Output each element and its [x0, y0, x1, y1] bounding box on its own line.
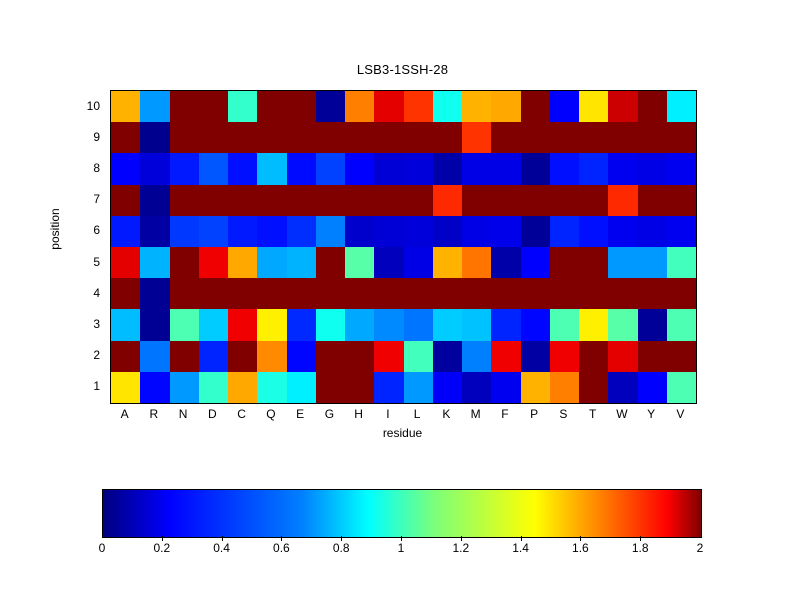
heatmap-cell: [433, 122, 462, 153]
x-axis-tick: L: [403, 404, 432, 424]
heatmap-cell: [111, 341, 140, 372]
x-axis-tick-labels: ARNDCQEGHILKMFPSTWYV: [110, 404, 695, 424]
heatmap-cell: [521, 185, 550, 216]
heatmap-cell: [257, 153, 286, 184]
heatmap-cell: [345, 309, 374, 340]
heatmap-cell: [316, 372, 345, 403]
x-axis-tick: I: [373, 404, 402, 424]
heatmap-cell: [491, 122, 520, 153]
heatmap-cell: [140, 372, 169, 403]
heatmap-cell: [638, 122, 667, 153]
heatmap-cell: [374, 185, 403, 216]
heatmap-cell: [462, 91, 491, 122]
heatmap-cell: [579, 278, 608, 309]
heatmap-cell: [491, 341, 520, 372]
heatmap-cell: [111, 153, 140, 184]
heatmap-cell: [667, 122, 696, 153]
heatmap-cell: [608, 372, 637, 403]
heatmap-cell: [199, 153, 228, 184]
y-axis-tick: 6: [72, 215, 104, 246]
heatmap-cell: [491, 153, 520, 184]
heatmap-cell: [462, 185, 491, 216]
heatmap-cell: [491, 216, 520, 247]
colorbar-tick-label: 1: [398, 541, 405, 555]
heatmap-cell: [433, 341, 462, 372]
heatmap-cell: [579, 153, 608, 184]
heatmap-cell: [608, 91, 637, 122]
x-axis-tick: F: [490, 404, 519, 424]
x-axis-tick: S: [549, 404, 578, 424]
colorbar-tick-label: 0.6: [273, 541, 290, 555]
heatmap-cell: [111, 372, 140, 403]
figure-canvas: LSB3-1SSH-28 position 10987654321 ARNDCQ…: [0, 0, 800, 600]
heatmap-cell: [316, 122, 345, 153]
heatmap-cell: [491, 185, 520, 216]
heatmap-cell: [579, 247, 608, 278]
heatmap-cell: [257, 309, 286, 340]
heatmap-cell: [111, 278, 140, 309]
colorbar-tick-label: 1.2: [452, 541, 469, 555]
y-axis-tick: 10: [72, 90, 104, 121]
heatmap-plot-area[interactable]: [110, 90, 697, 404]
heatmap-cell: [345, 122, 374, 153]
heatmap-cell: [257, 372, 286, 403]
heatmap-cell: [579, 372, 608, 403]
heatmap-cell: [374, 216, 403, 247]
heatmap-cell: [608, 122, 637, 153]
heatmap-cell: [199, 278, 228, 309]
heatmap-cell: [257, 247, 286, 278]
heatmap-cell: [374, 309, 403, 340]
y-axis-label: position: [48, 169, 62, 289]
colorbar-tick-label: 2: [697, 541, 704, 555]
heatmap-cell: [111, 247, 140, 278]
heatmap-cell: [140, 247, 169, 278]
x-axis-tick: T: [578, 404, 607, 424]
heatmap-cell: [550, 341, 579, 372]
heatmap-cell: [491, 309, 520, 340]
heatmap-cell: [111, 122, 140, 153]
heatmap-cell: [345, 341, 374, 372]
heatmap-cell: [433, 309, 462, 340]
heatmap-cell: [550, 278, 579, 309]
x-axis-tick: Q: [256, 404, 285, 424]
heatmap-cell: [170, 278, 199, 309]
heatmap-cell: [257, 122, 286, 153]
heatmap-cell: [404, 309, 433, 340]
heatmap-cell: [170, 341, 199, 372]
y-axis-tick: 4: [72, 277, 104, 308]
heatmap-cell: [579, 216, 608, 247]
heatmap-cell: [228, 278, 257, 309]
heatmap-cell: [316, 247, 345, 278]
heatmap-cell: [404, 153, 433, 184]
heatmap-cell: [316, 216, 345, 247]
heatmap-cell: [433, 185, 462, 216]
heatmap-cell: [608, 247, 637, 278]
heatmap-cell: [462, 153, 491, 184]
heatmap-cell: [608, 309, 637, 340]
heatmap-cell: [521, 153, 550, 184]
heatmap-cell: [170, 122, 199, 153]
heatmap-cell: [667, 216, 696, 247]
heatmap-cell: [287, 153, 316, 184]
heatmap-cell: [462, 278, 491, 309]
heatmap-cell: [287, 247, 316, 278]
y-axis-tick: 1: [72, 371, 104, 402]
heatmap-cell: [404, 122, 433, 153]
heatmap-cell: [228, 309, 257, 340]
heatmap-cell: [491, 247, 520, 278]
heatmap-cell: [404, 91, 433, 122]
page-title: LSB3-1SSH-28: [110, 62, 695, 77]
heatmap-cell: [140, 122, 169, 153]
heatmap-cell: [228, 122, 257, 153]
x-axis-tick: G: [315, 404, 344, 424]
heatmap-cell: [228, 185, 257, 216]
heatmap-cell: [374, 122, 403, 153]
heatmap-cell: [228, 341, 257, 372]
heatmap-cell: [140, 341, 169, 372]
y-axis-tick: 8: [72, 152, 104, 183]
heatmap-cell: [462, 372, 491, 403]
heatmap-cell: [521, 372, 550, 403]
heatmap-cell: [228, 372, 257, 403]
heatmap-cell: [316, 278, 345, 309]
heatmap-cell: [140, 91, 169, 122]
heatmap-cell: [374, 278, 403, 309]
heatmap-cell: [550, 247, 579, 278]
heatmap-cell: [638, 278, 667, 309]
heatmap-cell: [608, 216, 637, 247]
heatmap-cell: [667, 185, 696, 216]
heatmap-cell: [287, 216, 316, 247]
heatmap-cell: [228, 153, 257, 184]
heatmap-cell: [287, 372, 316, 403]
heatmap-cell: [257, 341, 286, 372]
heatmap-cell: [345, 278, 374, 309]
y-axis-tick: 9: [72, 121, 104, 152]
heatmap-cell: [257, 278, 286, 309]
heatmap-cell: [433, 247, 462, 278]
heatmap-cell: [462, 216, 491, 247]
x-axis-tick: R: [139, 404, 168, 424]
heatmap-cell: [374, 341, 403, 372]
heatmap-cell: [374, 153, 403, 184]
x-axis-tick: E: [286, 404, 315, 424]
heatmap-cell: [433, 216, 462, 247]
heatmap-cell: [667, 341, 696, 372]
heatmap-cell: [404, 185, 433, 216]
heatmap-cell: [316, 153, 345, 184]
heatmap-cell: [608, 278, 637, 309]
heatmap-cell: [608, 185, 637, 216]
heatmap-cell: [316, 91, 345, 122]
heatmap-cell: [228, 247, 257, 278]
colorbar-tick-label: 0.8: [333, 541, 350, 555]
heatmap-cell: [638, 216, 667, 247]
x-axis-tick: A: [110, 404, 139, 424]
heatmap-cell: [170, 153, 199, 184]
heatmap-cell: [491, 372, 520, 403]
heatmap-cell: [404, 372, 433, 403]
x-axis-tick: W: [607, 404, 636, 424]
heatmap-cell: [374, 91, 403, 122]
heatmap-cell: [287, 185, 316, 216]
colorbar-tick-label: 1.6: [572, 541, 589, 555]
heatmap-cell: [140, 153, 169, 184]
heatmap-cell: [550, 153, 579, 184]
heatmap-cell: [404, 341, 433, 372]
heatmap-cell: [374, 372, 403, 403]
colorbar-tick-label: 0.2: [153, 541, 170, 555]
heatmap-cell: [550, 122, 579, 153]
heatmap-cell: [287, 341, 316, 372]
x-axis-tick: N: [169, 404, 198, 424]
heatmap-cell: [579, 91, 608, 122]
heatmap-cell: [170, 216, 199, 247]
heatmap-cell: [404, 247, 433, 278]
colorbar-tick-label: 0: [99, 541, 106, 555]
heatmap-cell: [638, 153, 667, 184]
heatmap-cell: [667, 309, 696, 340]
x-axis-tick: K: [432, 404, 461, 424]
heatmap-cell: [433, 91, 462, 122]
heatmap-cell: [199, 372, 228, 403]
heatmap-cell: [462, 122, 491, 153]
heatmap-cell: [550, 185, 579, 216]
x-axis-tick: V: [666, 404, 695, 424]
heatmap-cell: [170, 309, 199, 340]
heatmap-cell: [287, 91, 316, 122]
y-axis-tick-labels: 10987654321: [72, 90, 104, 402]
x-axis-tick: M: [461, 404, 490, 424]
heatmap-cell: [638, 91, 667, 122]
heatmap-cell: [579, 185, 608, 216]
heatmap-cell: [140, 185, 169, 216]
heatmap-cell: [345, 153, 374, 184]
heatmap-cell: [111, 185, 140, 216]
heatmap-cell: [404, 216, 433, 247]
colorbar[interactable]: [102, 489, 702, 538]
heatmap-cell: [199, 341, 228, 372]
heatmap-cell: [638, 341, 667, 372]
heatmap-cell: [667, 91, 696, 122]
heatmap-cell: [170, 247, 199, 278]
heatmap-cell: [140, 309, 169, 340]
heatmap-cell: [111, 91, 140, 122]
heatmap-cell: [257, 216, 286, 247]
heatmap-cell: [111, 309, 140, 340]
heatmap-cell: [345, 372, 374, 403]
heatmap-cell: [521, 91, 550, 122]
heatmap-cell: [433, 278, 462, 309]
heatmap-cell: [228, 216, 257, 247]
heatmap-cell: [111, 216, 140, 247]
heatmap-cell: [228, 91, 257, 122]
heatmap-cell: [667, 247, 696, 278]
heatmap-cell: [199, 122, 228, 153]
colorbar-tick-label: 1.8: [632, 541, 649, 555]
colorbar-tick-label: 1.4: [512, 541, 529, 555]
heatmap-cell: [140, 278, 169, 309]
x-axis-tick: C: [227, 404, 256, 424]
heatmap-cell: [345, 216, 374, 247]
heatmap-cell: [316, 341, 345, 372]
heatmap-cell: [550, 216, 579, 247]
heatmap-cell: [579, 122, 608, 153]
heatmap-cell: [257, 185, 286, 216]
heatmap-cell: [521, 341, 550, 372]
x-axis-tick: P: [520, 404, 549, 424]
heatmap-cell: [170, 372, 199, 403]
heatmap-cell: [608, 341, 637, 372]
heatmap-cell: [638, 185, 667, 216]
heatmap-cell: [462, 309, 491, 340]
heatmap-cell: [345, 247, 374, 278]
heatmap-cell: [257, 91, 286, 122]
y-axis-tick: 7: [72, 184, 104, 215]
heatmap-cell: [521, 216, 550, 247]
heatmap-cell: [608, 153, 637, 184]
colorbar-gradient: [103, 490, 701, 537]
x-axis-label: residue: [110, 426, 695, 440]
heatmap-cell: [140, 216, 169, 247]
heatmap-cell: [667, 278, 696, 309]
heatmap-cell: [579, 341, 608, 372]
heatmap-cell: [316, 309, 345, 340]
y-axis-tick: 3: [72, 308, 104, 339]
heatmap-cell: [287, 309, 316, 340]
heatmap-cell: [667, 372, 696, 403]
heatmap-cell: [462, 341, 491, 372]
x-axis-tick: H: [344, 404, 373, 424]
heatmap-cell: [287, 122, 316, 153]
y-axis-tick: 2: [72, 340, 104, 371]
heatmap-cell: [579, 309, 608, 340]
heatmap-cell: [199, 247, 228, 278]
heatmap-cell: [550, 309, 579, 340]
heatmap-cell: [667, 153, 696, 184]
colorbar-tick-labels: 00.20.40.60.811.21.41.61.82: [102, 541, 700, 559]
heatmap-cell: [550, 91, 579, 122]
colorbar-tick-label: 0.4: [213, 541, 230, 555]
heatmap-cell: [199, 185, 228, 216]
heatmap-cell: [199, 216, 228, 247]
x-axis-tick: Y: [637, 404, 666, 424]
heatmap-cell: [199, 91, 228, 122]
heatmap-cell: [491, 91, 520, 122]
heatmap-cell: [638, 247, 667, 278]
heatmap-cell: [521, 247, 550, 278]
heatmap-cell: [374, 247, 403, 278]
heatmap-cell: [170, 185, 199, 216]
heatmap-cell: [491, 278, 520, 309]
y-axis-tick: 5: [72, 246, 104, 277]
heatmap-grid: [111, 91, 696, 403]
x-axis-tick: D: [198, 404, 227, 424]
heatmap-cell: [638, 309, 667, 340]
heatmap-cell: [287, 278, 316, 309]
heatmap-cell: [345, 91, 374, 122]
heatmap-cell: [550, 372, 579, 403]
heatmap-cell: [316, 185, 345, 216]
heatmap-cell: [521, 309, 550, 340]
heatmap-cell: [638, 372, 667, 403]
heatmap-cell: [199, 309, 228, 340]
heatmap-cell: [170, 91, 199, 122]
heatmap-cell: [521, 122, 550, 153]
heatmap-cell: [521, 278, 550, 309]
heatmap-cell: [433, 153, 462, 184]
heatmap-cell: [404, 278, 433, 309]
heatmap-cell: [345, 185, 374, 216]
heatmap-cell: [433, 372, 462, 403]
heatmap-cell: [462, 247, 491, 278]
